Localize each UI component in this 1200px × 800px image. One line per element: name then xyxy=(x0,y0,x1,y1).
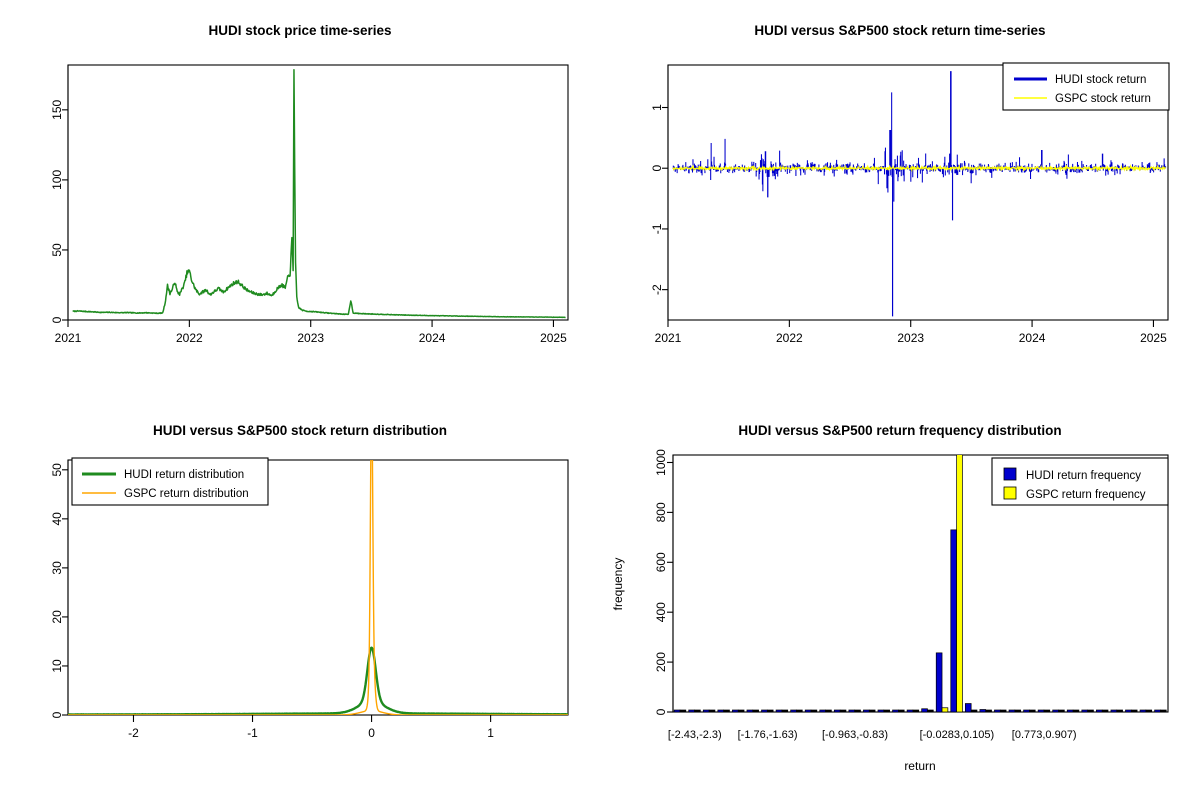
frequency-bar-hudi xyxy=(907,710,913,712)
x-tick-label: -2 xyxy=(128,726,139,740)
x-axis: 20212022202320242025 xyxy=(655,320,1168,345)
panel-title: HUDI stock price time-series xyxy=(208,23,391,38)
frequency-bar-hudi xyxy=(732,710,738,712)
y-axis: 01020304050 xyxy=(50,460,68,718)
legend-swatch-hudi-square xyxy=(1004,468,1016,480)
frequency-bar-gspc xyxy=(753,710,759,712)
y-tick-label: -1 xyxy=(650,223,664,234)
y-tick-label: 20 xyxy=(50,610,64,624)
legend-swatch-gspc-square xyxy=(1004,487,1016,499)
legend-label-hudi: HUDI return frequency xyxy=(1026,470,1141,482)
frequency-bar-hudi xyxy=(674,710,680,712)
y-tick-label: 10 xyxy=(50,659,64,673)
frequency-bar-hudi xyxy=(878,710,884,712)
frequency-bar-hudi xyxy=(1125,710,1131,712)
frequency-bar-hudi xyxy=(863,710,869,712)
y-tick-label: 1 xyxy=(650,104,664,111)
panel-return-frequency: HUDI versus S&P500 return frequency dist… xyxy=(600,400,1200,800)
x-tick-label: 2022 xyxy=(176,331,203,345)
legend: HUDI stock return GSPC stock return xyxy=(1003,63,1169,110)
frequency-bar-hudi xyxy=(1111,710,1117,712)
x-axis-label: return xyxy=(904,759,935,773)
y-tick-label: 50 xyxy=(50,463,64,477)
frequency-bar-gspc xyxy=(957,443,963,712)
frequency-bar-hudi xyxy=(1140,710,1146,712)
frequency-bar-hudi xyxy=(936,653,942,712)
frequency-bar-hudi xyxy=(1053,710,1059,712)
x-tick-label: 2021 xyxy=(55,331,82,345)
y-tick-label: 50 xyxy=(50,243,64,257)
legend-label-gspc: GSPC return distribution xyxy=(124,488,249,500)
x-axis: -2-101 xyxy=(68,715,568,740)
frequency-bar-hudi xyxy=(762,710,768,712)
y-tick-label: 0 xyxy=(50,316,64,323)
frequency-bar-hudi xyxy=(1038,710,1044,712)
frequency-bar-hudi xyxy=(1024,710,1030,712)
frequency-bar-gspc xyxy=(1102,710,1108,712)
y-tick-label: 1000 xyxy=(654,449,668,476)
frequency-bar-gspc xyxy=(1146,710,1152,712)
frequency-bar-hudi xyxy=(1155,710,1161,712)
x-tick-label: 2025 xyxy=(540,331,567,345)
frequency-bar-hudi xyxy=(893,710,899,712)
frequency-bar-gspc xyxy=(709,710,715,712)
hudi-density-line xyxy=(68,648,568,715)
figure-root: HUDI stock price time-series 050100150 2… xyxy=(0,0,1200,800)
frequency-bar-hudi xyxy=(1067,710,1073,712)
y-tick-label: 200 xyxy=(654,652,668,672)
panel-return-timeseries: HUDI versus S&P500 stock return time-ser… xyxy=(600,0,1200,400)
frequency-bar-gspc xyxy=(1131,710,1137,712)
frequency-bar-hudi xyxy=(791,710,797,712)
frequency-bar-gspc xyxy=(840,710,846,712)
panel-title: HUDI versus S&P500 stock return time-ser… xyxy=(754,23,1045,38)
x-tick-label: 2025 xyxy=(1140,331,1167,345)
frequency-bar-hudi xyxy=(951,530,957,712)
panel-title: HUDI versus S&P500 return frequency dist… xyxy=(738,423,1061,438)
x-tick-label: 2022 xyxy=(776,331,803,345)
frequency-bar-hudi xyxy=(718,710,724,712)
frequency-bar-gspc xyxy=(826,710,832,712)
hudi-price-line xyxy=(73,70,566,318)
y-tick-label: 800 xyxy=(654,502,668,522)
x-tick-label: 1 xyxy=(487,726,494,740)
panel-hudi-price-timeseries: HUDI stock price time-series 050100150 2… xyxy=(0,0,600,400)
frequency-bar-gspc xyxy=(884,710,890,712)
x-axis: 20212022202320242025 xyxy=(55,320,568,345)
y-tick-label: 0 xyxy=(50,711,64,718)
y-axis-label: frequency xyxy=(611,558,625,611)
frequency-bar-gspc xyxy=(1073,710,1079,712)
frequency-bar-gspc xyxy=(869,710,875,712)
frequency-bar-gspc xyxy=(986,710,992,712)
x-tick-label: 2023 xyxy=(297,331,324,345)
x-tick-label: 2024 xyxy=(1019,331,1046,345)
frequency-bar-gspc xyxy=(695,710,701,712)
frequency-bar-gspc xyxy=(796,710,802,712)
frequency-bar-hudi xyxy=(747,710,753,712)
y-axis: 02004006008001000 xyxy=(654,449,673,716)
y-tick-label: 600 xyxy=(654,552,668,572)
frequency-bar-hudi xyxy=(1082,710,1088,712)
legend: HUDI return distribution GSPC return dis… xyxy=(72,458,268,505)
frequency-bar-gspc xyxy=(1015,710,1021,712)
y-tick-label: 0 xyxy=(654,708,668,715)
frequency-bar-hudi xyxy=(689,710,695,712)
x-tick-label: 2021 xyxy=(655,331,682,345)
bin-tick-label: [-1.76,-1.63) xyxy=(738,729,798,741)
x-tick-label: 2024 xyxy=(419,331,446,345)
frequency-bar-hudi xyxy=(994,710,1000,712)
frequency-bar-hudi xyxy=(834,710,840,712)
y-tick-label: 100 xyxy=(50,170,64,190)
y-tick-label: 150 xyxy=(50,100,64,120)
frequency-bar-gspc xyxy=(971,710,977,712)
bin-tick-label: [0.773,0.907) xyxy=(1012,729,1077,741)
frequency-bar-gspc xyxy=(898,710,904,712)
frequency-bar-gspc xyxy=(1044,710,1050,712)
frequency-bar-gspc xyxy=(1029,710,1035,712)
y-tick-label: -2 xyxy=(650,284,664,295)
frequency-bar-gspc xyxy=(1117,710,1123,712)
y-tick-label: 30 xyxy=(50,561,64,575)
bin-tick-label: [-2.43,-2.3) xyxy=(668,729,722,741)
frequency-bar-hudi xyxy=(1096,710,1102,712)
bin-tick-labels: [-2.43,-2.3)[-1.76,-1.63)[-0.963,-0.83)[… xyxy=(668,729,1077,741)
frequency-bar-gspc xyxy=(927,710,933,712)
frequency-bar-gspc xyxy=(680,710,686,712)
frequency-bar-gspc xyxy=(782,710,788,712)
frequency-bar-gspc xyxy=(1160,710,1166,712)
frequency-bar-gspc xyxy=(767,710,773,712)
legend-label-hudi: HUDI return distribution xyxy=(124,469,244,481)
x-tick-label: -1 xyxy=(247,726,258,740)
frequency-bar-gspc xyxy=(1088,710,1094,712)
frequency-bar-hudi xyxy=(965,704,971,712)
bin-tick-label: [-0.963,-0.83) xyxy=(822,729,888,741)
y-tick-label: 40 xyxy=(50,512,64,526)
bin-tick-label: [-0.0283,0.105) xyxy=(920,729,995,741)
y-axis: -2-101 xyxy=(650,65,668,320)
frequency-bar-gspc xyxy=(1059,710,1065,712)
y-tick-label: 400 xyxy=(654,602,668,622)
x-tick-label: 0 xyxy=(368,726,375,740)
frequency-bar-hudi xyxy=(776,710,782,712)
y-tick-label: 0 xyxy=(650,165,664,172)
panel-title: HUDI versus S&P500 stock return distribu… xyxy=(153,423,447,438)
legend-label-hudi: HUDI stock return xyxy=(1055,74,1146,86)
frequency-bar-hudi xyxy=(805,710,811,712)
panel-return-density: HUDI versus S&P500 stock return distribu… xyxy=(0,400,600,800)
frequency-bar-gspc xyxy=(724,710,730,712)
legend: HUDI return frequency GSPC return freque… xyxy=(992,458,1168,505)
frequency-bar-hudi xyxy=(820,710,826,712)
frequency-bar-gspc xyxy=(913,710,919,712)
frequency-bar-gspc xyxy=(942,708,948,712)
x-tick-label: 2023 xyxy=(897,331,924,345)
gspc-density-line xyxy=(68,400,568,715)
frequency-bar-gspc xyxy=(855,710,861,712)
frequency-bar-hudi xyxy=(849,710,855,712)
frequency-bar-hudi xyxy=(703,710,709,712)
frequency-bar-hudi xyxy=(980,710,986,713)
frequency-bar-gspc xyxy=(738,710,744,712)
frequency-bar-hudi xyxy=(922,709,928,712)
frequency-bar-gspc xyxy=(1000,710,1006,712)
frequency-bar-gspc xyxy=(811,710,817,712)
legend-label-gspc: GSPC stock return xyxy=(1055,93,1151,105)
legend-label-gspc: GSPC return frequency xyxy=(1026,489,1146,501)
plot-frame xyxy=(68,65,568,320)
y-axis: 050100150 xyxy=(50,65,68,323)
frequency-bar-hudi xyxy=(1009,710,1015,712)
